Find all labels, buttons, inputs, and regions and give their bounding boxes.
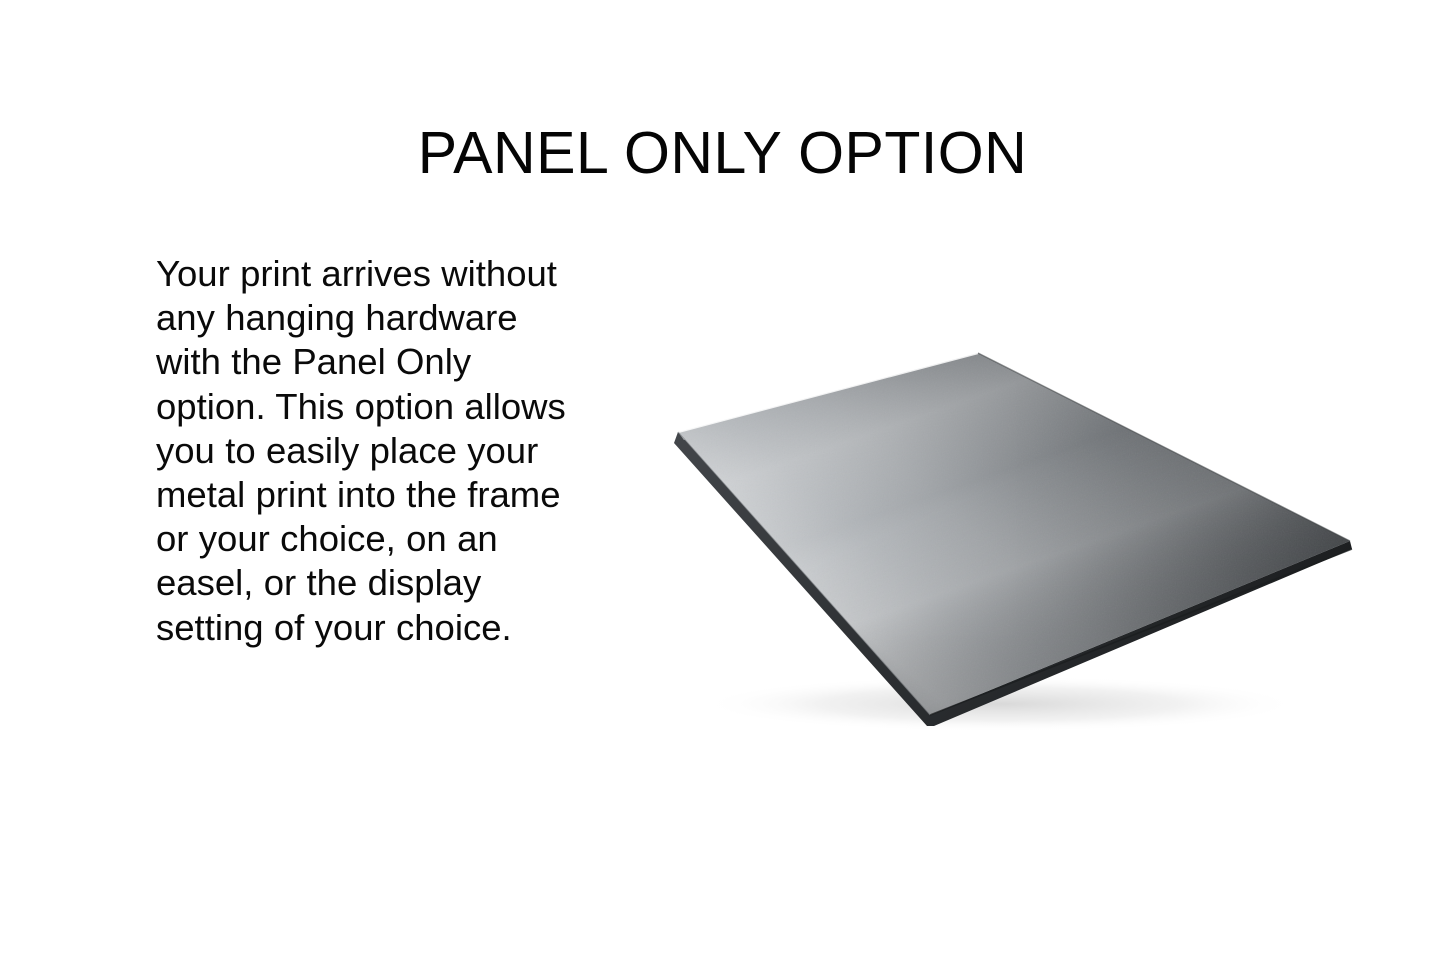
slide-canvas: PANEL ONLY OPTION Your print arrives wit… <box>0 0 1445 963</box>
metal-panel-svg <box>640 330 1380 740</box>
panel-grain-texture <box>640 330 1380 740</box>
page-title: PANEL ONLY OPTION <box>0 122 1445 186</box>
metal-panel-illustration <box>640 330 1380 740</box>
body-paragraph: Your print arrives without any hanging h… <box>156 252 574 650</box>
